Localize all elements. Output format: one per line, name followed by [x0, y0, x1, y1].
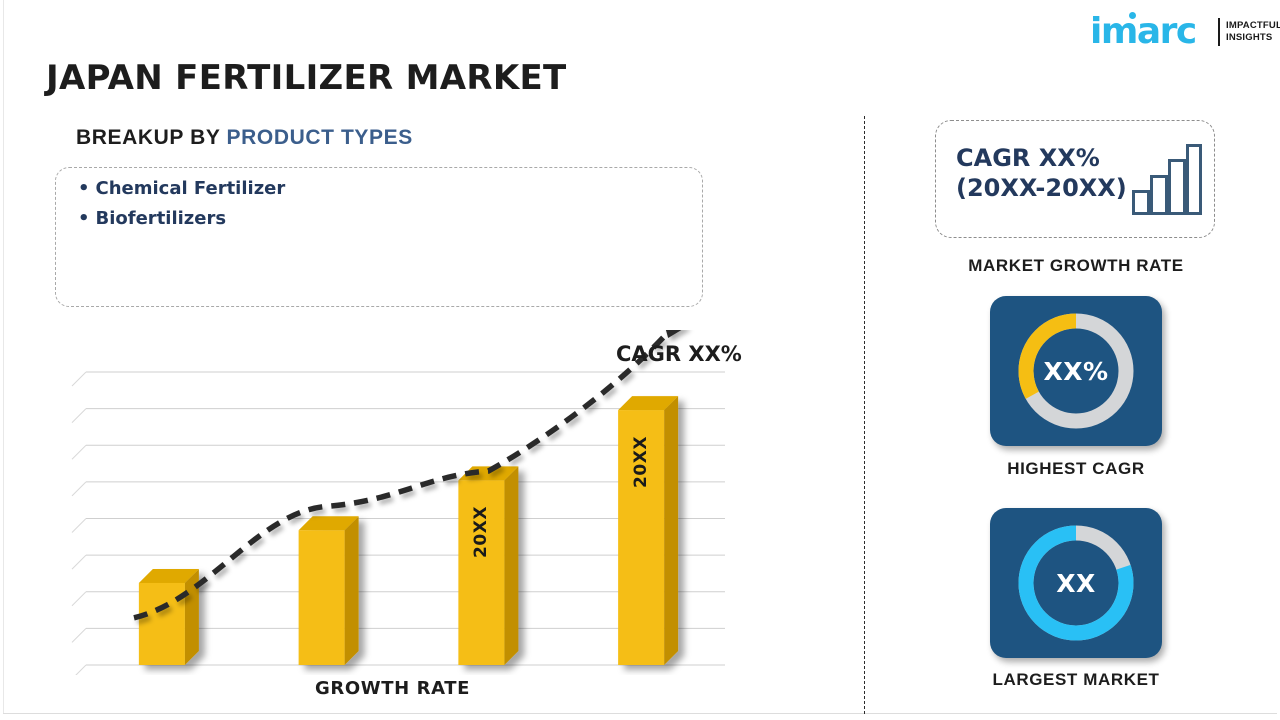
segment-label: Chemical Fertilizer	[96, 178, 286, 199]
logo-tagline: IMPACTFUL INSIGHTS	[1226, 20, 1280, 44]
bullet-icon: •	[78, 178, 90, 199]
segment-label: Biofertilizers	[96, 208, 227, 229]
infographic-page: imarc IMPACTFUL INSIGHTS JAPAN FERTILIZE…	[0, 0, 1280, 720]
chart-cagr-annotation: CAGR XX%	[616, 342, 742, 366]
breakup-heading-accent: PRODUCT TYPES	[227, 126, 413, 149]
page-title: JAPAN FERTILIZER MARKET	[46, 58, 567, 98]
largest-market-label: LARGEST MARKET	[916, 670, 1236, 690]
chart-canvas	[60, 330, 750, 675]
market-growth-rate-label: MARKET GROWTH RATE	[916, 256, 1236, 276]
logo-tagline-line1: IMPACTFUL	[1226, 20, 1280, 32]
chart-trend-line	[134, 330, 688, 618]
segments-box: •Chemical Fertilizer •Biofertilizers	[55, 167, 703, 307]
breakup-heading: BREAKUP BY PRODUCT TYPES	[76, 126, 413, 150]
logo-divider	[1218, 18, 1220, 46]
bar-label: 20XX	[631, 432, 651, 492]
imarc-logo: imarc IMPACTFUL INSIGHTS	[1090, 8, 1270, 54]
highest-cagr-card: XX%	[990, 296, 1162, 446]
chart-x-axis-label: GROWTH RATE	[60, 678, 725, 699]
cagr-line2: (20XX-20XX)	[956, 173, 1127, 203]
breakup-heading-prefix: BREAKUP BY	[76, 126, 227, 149]
bar-chart-icon	[1132, 143, 1202, 215]
list-item: •Chemical Fertilizer	[78, 178, 285, 199]
logo-tagline-line2: INSIGHTS	[1226, 32, 1280, 44]
highest-cagr-label: HIGHEST CAGR	[916, 459, 1236, 479]
list-item: •Biofertilizers	[78, 208, 226, 229]
logo-wordmark: imarc	[1090, 14, 1196, 50]
highest-cagr-value: XX%	[990, 296, 1162, 446]
page-border-bottom	[3, 713, 1277, 714]
largest-market-value: XX	[990, 508, 1162, 658]
vertical-divider	[864, 116, 865, 714]
cagr-value-text: CAGR XX% (20XX-20XX)	[956, 143, 1127, 203]
page-border-left	[3, 0, 4, 714]
bullet-icon: •	[78, 208, 90, 229]
market-growth-rate-box: CAGR XX% (20XX-20XX)	[935, 120, 1215, 238]
chart-bars	[139, 396, 678, 665]
growth-rate-bar-chart: CAGR XX% GROWTH RATE 20XX20XX	[60, 330, 750, 710]
largest-market-card: XX	[990, 508, 1162, 658]
bar-label: 20XX	[471, 502, 491, 562]
cagr-line1: CAGR XX%	[956, 143, 1127, 173]
